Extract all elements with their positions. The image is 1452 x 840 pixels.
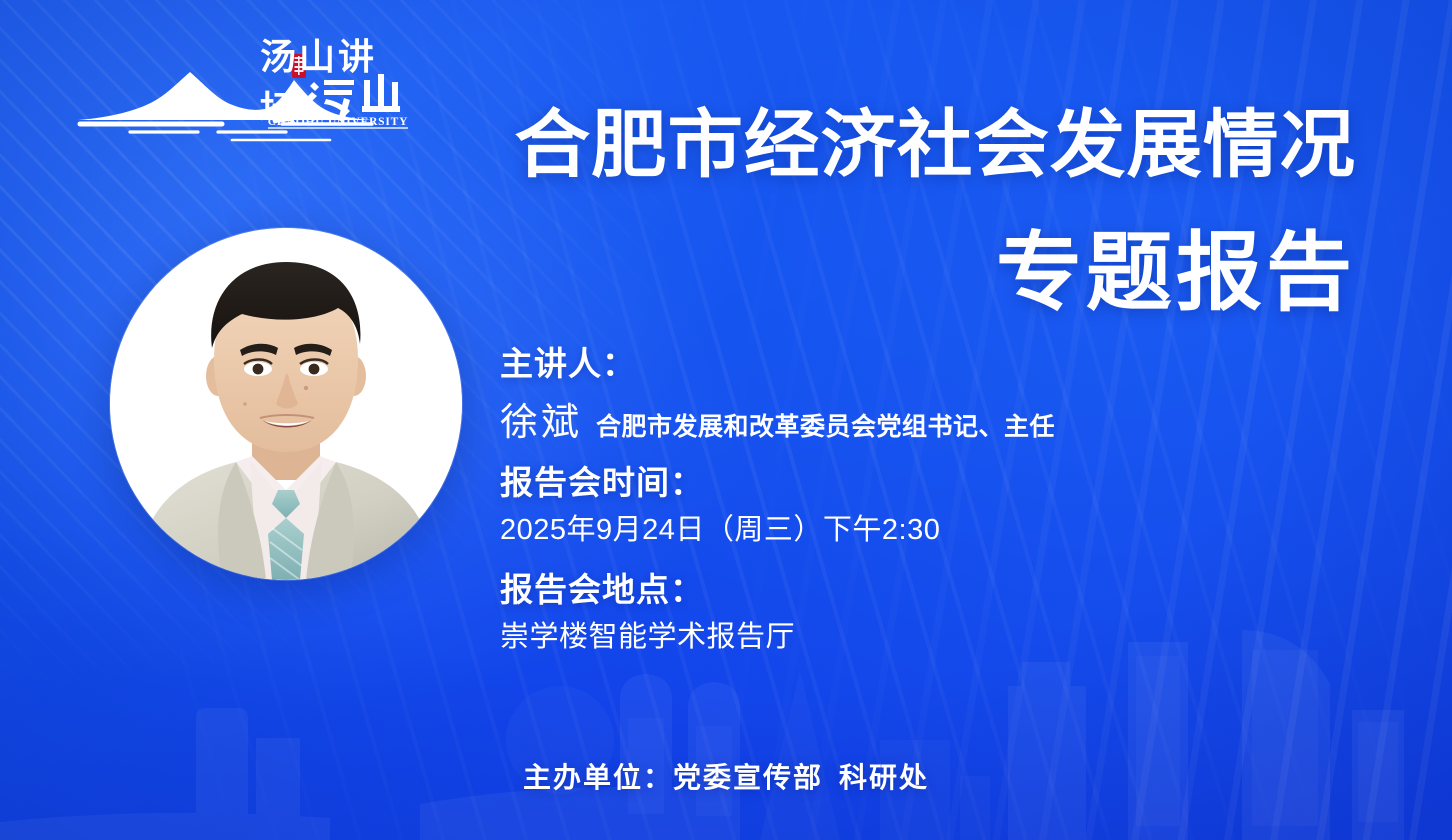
headline-line-1: 合肥市经济社会发展情况 bbox=[515, 108, 1357, 182]
time-label: 报告会时间： bbox=[500, 462, 1360, 504]
brand-name-cn: 汤山讲坛 bbox=[260, 56, 412, 104]
portrait-illustration bbox=[110, 228, 462, 580]
event-poster: CHAOHU UNIVERSITY 汤山讲坛 bbox=[0, 0, 1452, 840]
speaker-label: 主讲人： bbox=[500, 343, 1360, 385]
headline-line-2: 专题报告 bbox=[531, 230, 1356, 316]
speaker-portrait bbox=[110, 228, 462, 580]
brand-logo: CHAOHU UNIVERSITY 汤山讲坛 bbox=[72, 52, 412, 142]
speaker-row: 徐斌 合肥市发展和改革委员会党组书记、主任 bbox=[500, 391, 1360, 446]
organizer-primary: 党委宣传部 bbox=[673, 762, 823, 793]
poster-headline: 合肥市经济社会发展情况 专题报告 bbox=[531, 108, 1356, 316]
event-details: 主讲人： 徐斌 合肥市发展和改革委员会党组书记、主任 报告会时间： 2025年9… bbox=[500, 343, 1360, 657]
organizer-secondary: 科研处 bbox=[839, 762, 929, 793]
speaker-name: 徐斌 bbox=[500, 391, 582, 446]
speaker-title: 合肥市发展和改革委员会党组书记、主任 bbox=[596, 407, 1055, 443]
organizer-label: 主办单位： bbox=[523, 762, 673, 793]
time-value: 2025年9月24日（周三）下午2:30 bbox=[500, 511, 1360, 550]
place-label: 报告会地点： bbox=[500, 569, 1360, 611]
organizer-line: 主办单位：党委宣传部科研处 bbox=[0, 756, 1452, 796]
place-value: 崇学楼智能学术报告厅 bbox=[500, 618, 1360, 657]
